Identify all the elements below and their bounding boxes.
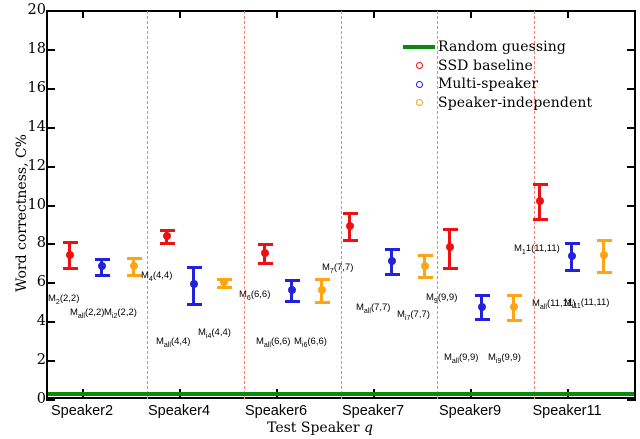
data-point-label: Mall(6,6) bbox=[256, 336, 290, 349]
data-point-label: Mi4(4,4) bbox=[198, 327, 231, 340]
error-bar-cap-top bbox=[385, 248, 400, 251]
chart-figure: 02468101214161820 Speaker2Speaker4Speake… bbox=[0, 0, 640, 439]
error-bar-cap-bottom bbox=[160, 242, 175, 245]
error-bar-marker bbox=[159, 229, 175, 243]
error-bar-marker bbox=[564, 242, 580, 268]
data-point-label: Mall(2,2) bbox=[70, 307, 104, 320]
legend-label: Multi-speaker bbox=[438, 76, 538, 92]
data-point-dot bbox=[478, 303, 486, 311]
error-bar-cap-bottom bbox=[385, 273, 400, 276]
y-tick-label: 18 bbox=[6, 41, 46, 57]
error-bar-cap-bottom bbox=[418, 276, 433, 279]
error-bar-cap-top bbox=[285, 279, 300, 282]
legend-marker bbox=[416, 81, 423, 88]
error-bar-cap-top bbox=[475, 294, 490, 297]
error-bar-marker bbox=[474, 294, 490, 318]
data-point-label: Mi2(2,2) bbox=[104, 307, 137, 320]
y-tick bbox=[46, 399, 55, 401]
legend-item-1: SSD baseline bbox=[400, 57, 630, 76]
data-point-dot bbox=[163, 232, 171, 240]
data-point-dot bbox=[130, 262, 138, 270]
error-bar-cap-top bbox=[63, 241, 78, 244]
error-bar-cap-bottom bbox=[475, 318, 490, 321]
error-bar-cap-bottom bbox=[285, 300, 300, 303]
x-axis-title: Test Speaker q bbox=[0, 420, 640, 436]
data-point-dot bbox=[388, 257, 396, 265]
error-bar-cap-bottom bbox=[217, 286, 232, 289]
legend-label: Random guessing bbox=[438, 39, 566, 55]
x-tick-top bbox=[567, 10, 569, 18]
error-bar-cap-top bbox=[258, 243, 273, 246]
error-bar-marker bbox=[442, 228, 458, 267]
y-tick bbox=[46, 10, 55, 12]
legend-marker bbox=[403, 45, 435, 49]
legend-label: Speaker-independent bbox=[438, 95, 592, 111]
data-point-label: Mi11(11,11) bbox=[564, 297, 609, 310]
data-point-dot bbox=[66, 251, 74, 259]
error-bar-cap-top bbox=[343, 212, 358, 215]
data-point-label: Mall(7,7) bbox=[356, 302, 390, 315]
error-bar-cap-top bbox=[597, 239, 612, 242]
error-bar-cap-bottom bbox=[565, 269, 580, 272]
y-tick-right bbox=[627, 10, 636, 12]
y-tick-label: 16 bbox=[6, 80, 46, 96]
legend-line-icon bbox=[400, 45, 438, 49]
y-tick bbox=[46, 205, 55, 207]
random-guessing-series bbox=[48, 392, 634, 396]
y-axis-title: Word correctness, C% bbox=[14, 103, 30, 323]
error-bar-cap-bottom bbox=[443, 267, 458, 270]
error-bar-cap-top bbox=[187, 266, 202, 269]
y-tick bbox=[46, 282, 55, 284]
data-point-dot bbox=[600, 251, 608, 259]
y-tick bbox=[46, 360, 55, 362]
x-tick-label-speaker11: Speaker11 bbox=[507, 403, 627, 419]
separator-line bbox=[244, 11, 245, 399]
separator-line bbox=[147, 11, 148, 399]
separator-line bbox=[341, 11, 342, 399]
error-bar-marker bbox=[126, 257, 142, 274]
error-bar-cap-top bbox=[507, 294, 522, 297]
error-bar-marker bbox=[94, 258, 110, 274]
error-bar-cap-bottom bbox=[95, 274, 110, 277]
y-tick-right bbox=[627, 166, 636, 168]
legend-marker bbox=[416, 99, 423, 106]
data-point-dot bbox=[190, 280, 198, 288]
legend-label: SSD baseline bbox=[438, 58, 533, 74]
error-bar-cap-bottom bbox=[507, 319, 522, 322]
error-bar-cap-bottom bbox=[315, 301, 330, 304]
data-point-label: M11(11,11) bbox=[514, 243, 560, 256]
error-bar-cap-bottom bbox=[258, 262, 273, 265]
error-bar-marker bbox=[417, 254, 433, 276]
y-tick bbox=[46, 321, 55, 323]
y-tick bbox=[46, 88, 55, 90]
data-point-dot bbox=[318, 286, 326, 294]
error-bar-cap-top bbox=[533, 183, 548, 186]
legend-circle-icon bbox=[400, 81, 438, 88]
error-bar-cap-top bbox=[315, 278, 330, 281]
data-point-dot bbox=[536, 197, 544, 205]
data-point-dot bbox=[261, 249, 269, 257]
error-bar-cap-top bbox=[443, 228, 458, 231]
y-tick-right bbox=[627, 360, 636, 362]
error-bar-cap-bottom bbox=[187, 303, 202, 306]
data-point-dot bbox=[288, 286, 296, 294]
data-point-label: Mi7(7,7) bbox=[397, 309, 430, 322]
error-bar-marker bbox=[216, 278, 232, 286]
y-tick-right bbox=[627, 321, 636, 323]
legend-item-3: Speaker-independent bbox=[400, 94, 630, 113]
error-bar-marker bbox=[506, 294, 522, 319]
data-point-dot bbox=[446, 243, 454, 251]
data-point-dot bbox=[220, 278, 228, 286]
data-point-label: M9(9,9) bbox=[426, 292, 457, 305]
y-tick bbox=[46, 166, 55, 168]
error-bar-marker bbox=[384, 248, 400, 272]
error-bar-cap-top bbox=[418, 254, 433, 257]
legend: Random guessingSSD baselineMulti-speaker… bbox=[400, 38, 630, 112]
x-tick-top bbox=[276, 10, 278, 18]
x-tick-top bbox=[470, 10, 472, 18]
y-tick-right bbox=[627, 205, 636, 207]
error-bar-cap-bottom bbox=[343, 239, 358, 242]
y-tick bbox=[46, 49, 55, 51]
error-bar-cap-bottom bbox=[597, 271, 612, 274]
y-tick-right bbox=[627, 243, 636, 245]
x-tick-top bbox=[373, 10, 375, 18]
data-point-dot bbox=[568, 252, 576, 260]
y-tick-label: 20 bbox=[6, 2, 46, 18]
data-point-dot bbox=[98, 262, 106, 270]
y-tick bbox=[46, 127, 55, 129]
data-point-label: Mi9(9,9) bbox=[488, 352, 521, 365]
error-bar-cap-bottom bbox=[533, 218, 548, 221]
error-bar-cap-top bbox=[95, 258, 110, 261]
legend-item-0: Random guessing bbox=[400, 38, 630, 57]
error-bar-cap-top bbox=[565, 242, 580, 245]
error-bar-marker bbox=[532, 183, 548, 218]
y-tick-right bbox=[627, 127, 636, 129]
data-point-label: M2(2,2) bbox=[48, 293, 79, 306]
data-point-label: Mall(9,9) bbox=[444, 352, 478, 365]
x-axis-title-text: Test Speaker q bbox=[267, 420, 373, 436]
error-bar-cap-top bbox=[127, 257, 142, 260]
error-bar-marker bbox=[257, 243, 273, 261]
y-tick-right bbox=[627, 282, 636, 284]
error-bar-marker bbox=[342, 212, 358, 238]
legend-circle-icon bbox=[400, 62, 438, 69]
data-point-dot bbox=[346, 222, 354, 230]
y-tick-label: 2 bbox=[6, 352, 46, 368]
legend-item-2: Multi-speaker bbox=[400, 75, 630, 94]
error-bar-marker bbox=[62, 241, 78, 266]
data-point-label: M6(6,6) bbox=[239, 289, 270, 302]
y-tick-right bbox=[627, 399, 636, 401]
data-point-label: M4(4,4) bbox=[141, 270, 172, 283]
error-bar-cap-bottom bbox=[127, 274, 142, 277]
y-tick bbox=[46, 243, 55, 245]
error-bar-marker bbox=[186, 266, 202, 303]
error-bar-marker bbox=[596, 239, 612, 271]
data-point-label: Mall(4,4) bbox=[156, 336, 190, 349]
error-bar-marker bbox=[284, 279, 300, 299]
legend-circle-icon bbox=[400, 99, 438, 106]
x-tick-top bbox=[179, 10, 181, 18]
x-tick-top bbox=[82, 10, 84, 18]
y-axis-title-text: Word correctness, C% bbox=[14, 134, 30, 292]
data-point-dot bbox=[421, 262, 429, 270]
error-bar-marker bbox=[314, 278, 330, 300]
legend-marker bbox=[416, 62, 423, 69]
data-point-dot bbox=[510, 303, 518, 311]
data-point-label: M7(7,7) bbox=[322, 262, 353, 275]
error-bar-cap-bottom bbox=[63, 267, 78, 270]
data-point-label: Mi6(6,6) bbox=[294, 336, 327, 349]
